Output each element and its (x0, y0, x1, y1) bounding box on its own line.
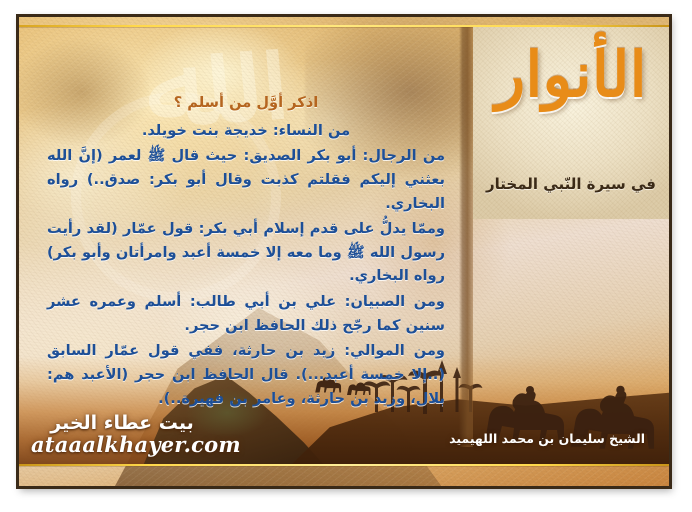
article-question: اذكر أوَّل من أسلم ؟ (47, 91, 445, 115)
bottom-gold-rule (19, 464, 669, 466)
article-paragraph-5: ومن الموالي: زيد بن حارثة، ففي قول عمّار… (47, 339, 445, 410)
poster-canvas: ﷲ (0, 0, 692, 512)
article-paragraph-4: ومن الصبيان: علي بن أبي طالب: أسلم وعمره… (47, 290, 445, 337)
article-paragraph-1: من النساء: خديجة بنت خويلد. (47, 119, 445, 143)
article-paragraph-3: وممّا يدلُّ على قدم إسلام أبي بكر: قول ع… (47, 217, 445, 288)
author-credit: الشيخ سليمان بن محمد اللهيميد (449, 431, 645, 446)
site-logo-arabic-name: بيت عطاء الخير (31, 413, 213, 434)
publication-subtitle: في سيرة النّبي المختار (473, 175, 669, 193)
site-logo-url[interactable]: ataaalkhayer.com (31, 433, 213, 456)
publication-title: الأنوار (473, 33, 669, 117)
masthead-divider-strip (459, 27, 473, 447)
masthead-panel: الأنوار في سيرة النّبي المختار (473, 27, 669, 219)
article-body: اذكر أوَّل من أسلم ؟ من النساء: خديجة بن… (47, 91, 445, 412)
article-paragraph-2: من الرجال: أبو بكر الصديق: حيث قال ﷺ لعم… (47, 144, 445, 215)
site-logo[interactable]: بيت عطاء الخير ataaalkhayer.com (31, 413, 213, 456)
poster-frame: ﷲ (16, 14, 672, 489)
